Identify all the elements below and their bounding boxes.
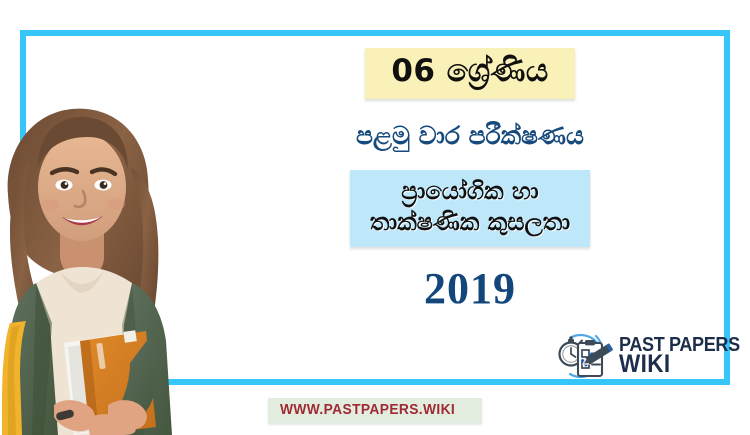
stopwatch-clipboard-pencil-icon	[556, 330, 614, 382]
subject-badge-line-1: ප්‍රායෝගික හා	[370, 176, 570, 207]
exam-year: 2019	[424, 267, 516, 311]
grade-badge: 06 ශ්‍රේණිය	[365, 48, 574, 99]
grade-badge-text: 06 ශ්‍රේණිය	[391, 55, 548, 88]
student-photo	[0, 75, 215, 435]
term-title: පළමු වාර පරීක්ෂණය	[356, 122, 584, 150]
exam-paper-cover: 06 ශ්‍රේණිය පළමු වාර පරීක්ෂණය ප්‍රායෝගික…	[0, 0, 750, 435]
footer-url-text: WWW.PASTPAPERS.WIKI	[280, 401, 455, 418]
subject-badge: ප්‍රායෝගික හා තාක්ෂණික කුසලතා	[350, 170, 590, 247]
past-papers-wiki-logo[interactable]: PAST PAPERS WIKI	[556, 327, 721, 385]
logo-wordmark: PAST PAPERS WIKI	[619, 336, 750, 375]
logo-word-line-2: WIKI	[619, 354, 743, 376]
footer-url-pill[interactable]: WWW.PASTPAPERS.WIKI	[268, 398, 482, 423]
subject-badge-line-2: තාක්ෂණික කුසලතා	[370, 207, 570, 238]
footer-url-strip: WWW.PASTPAPERS.WIKI	[0, 398, 750, 435]
